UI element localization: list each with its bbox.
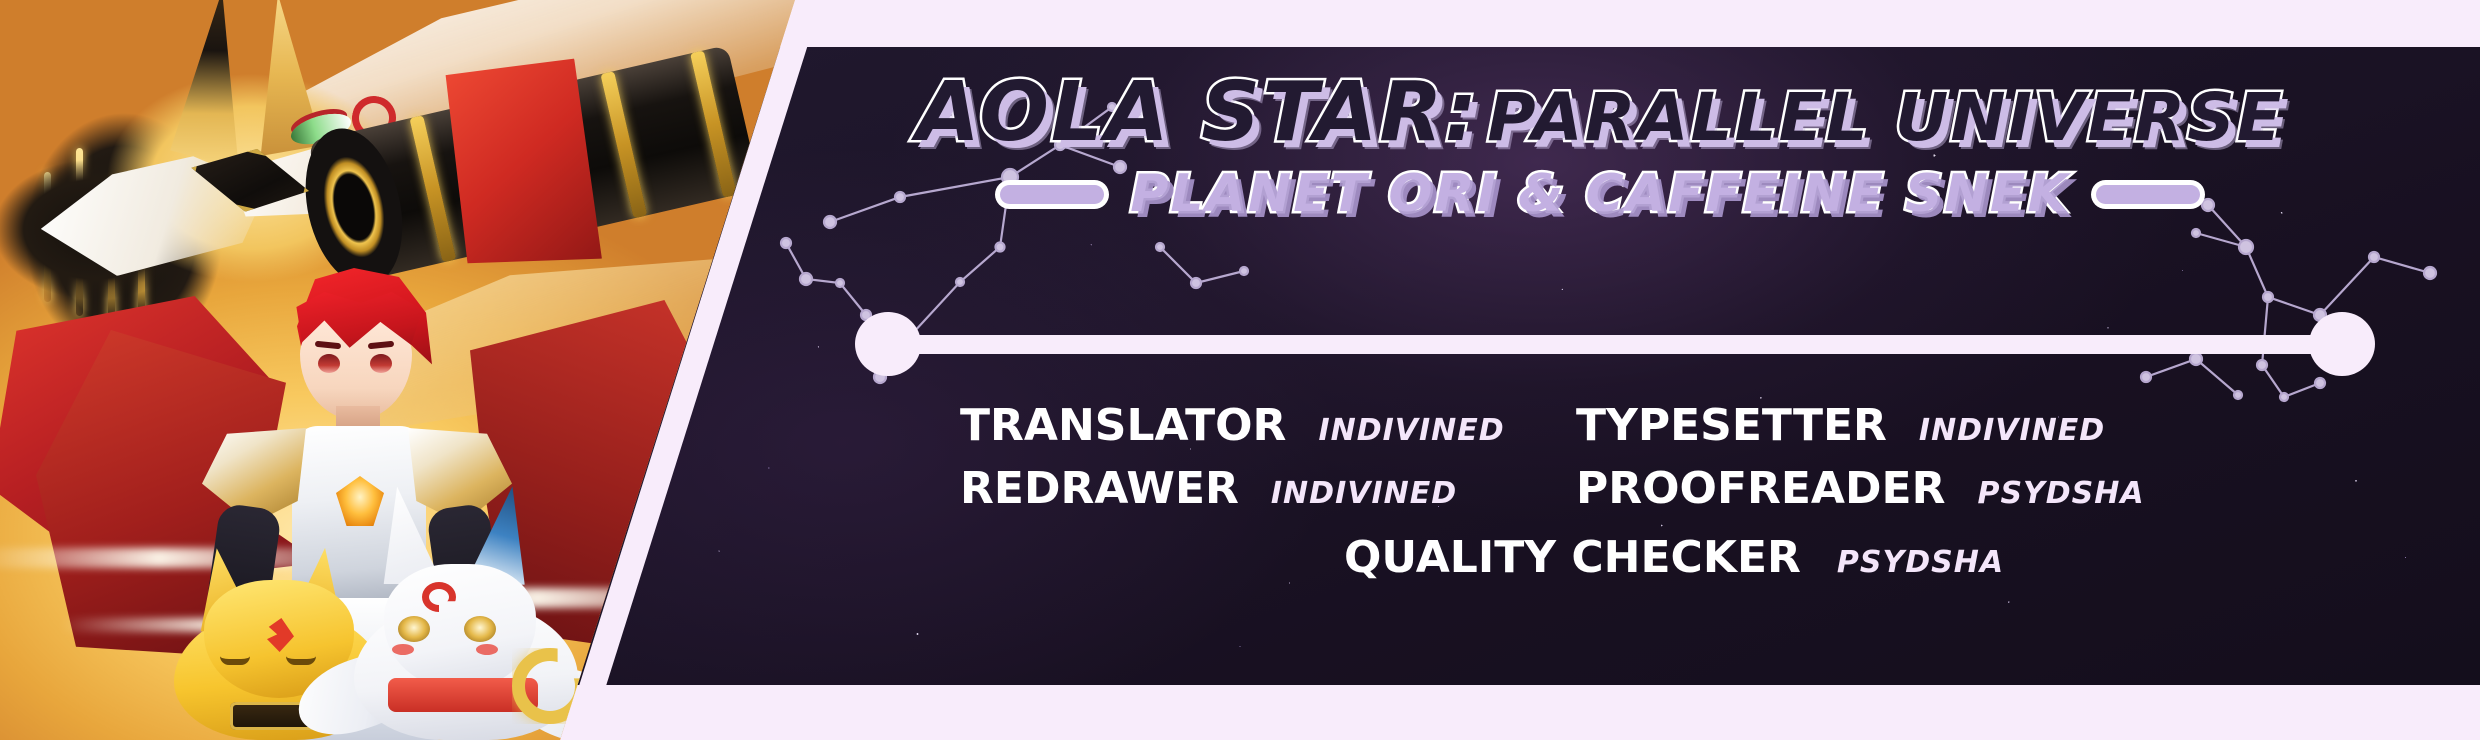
- credits-block: TRANSLATOR INDIVINED REDRAWER INDIVINED …: [960, 400, 2360, 590]
- white-fox-pet: [336, 520, 596, 740]
- credits-columns: TRANSLATOR INDIVINED REDRAWER INDIVINED …: [960, 400, 2360, 526]
- credit-name-proofreader: PSYDSHA: [1977, 476, 2144, 511]
- main-title-line: AOLA STAR:PARALLEL UNIVERSE: [820, 72, 2380, 154]
- character-eye-left: [318, 354, 340, 373]
- credit-name-quality-checker: PSYDSHA: [1837, 545, 2004, 580]
- subtitle-dash-left: [1000, 185, 1104, 204]
- series-subtitle-main: PARALLEL UNIVERSE: [1487, 79, 2284, 156]
- credit-role-translator: TRANSLATOR: [960, 400, 1286, 451]
- credit-name-typesetter: INDIVINED: [1919, 413, 2105, 448]
- credits-page: AOLA STAR:PARALLEL UNIVERSE PLANET ORI &…: [0, 0, 2480, 740]
- character-eye-right: [370, 354, 392, 373]
- white-fox-eye-left: [398, 616, 430, 642]
- white-fox-blush-right: [476, 644, 498, 655]
- white-fox-blush-left: [392, 644, 414, 655]
- subtitle-dash-right: [2096, 185, 2200, 204]
- credit-name-redrawer: INDIVINED: [1271, 476, 1457, 511]
- credits-column-right: TYPESETTER INDIVINED PROOFREADER PSYDSHA: [1576, 400, 2136, 526]
- subtitle-row: PLANET ORI & CAFFEINE SNEK: [820, 168, 2380, 220]
- yellow-fox-eye-right: [286, 656, 316, 665]
- credit-role-redrawer: REDRAWER: [960, 463, 1239, 514]
- credit-role-quality-checker: QUALITY CHECKER: [1344, 532, 1801, 583]
- series-title: AOLA STAR:: [916, 65, 1479, 160]
- credit-role-proofreader: PROOFREADER: [1576, 463, 1945, 514]
- credit-name-translator: INDIVINED: [1318, 413, 1504, 448]
- white-fox-eye-right: [464, 616, 496, 642]
- white-fox-gold-ring: [512, 648, 588, 724]
- credit-row: TYPESETTER INDIVINED: [1576, 400, 2136, 451]
- divider-bar-group: [855, 312, 2375, 376]
- credits-column-left: TRANSLATOR INDIVINED REDRAWER INDIVINED: [960, 400, 1490, 526]
- chapter-subtitle: PLANET ORI & CAFFEINE SNEK: [1130, 168, 2070, 220]
- credit-row: TRANSLATOR INDIVINED: [960, 400, 1490, 451]
- divider-cap-right: [2309, 312, 2375, 376]
- credit-role-typesetter: TYPESETTER: [1576, 400, 1887, 451]
- bottom-bar: [710, 685, 2480, 740]
- yellow-fox-eye-left: [220, 656, 250, 665]
- divider-line: [899, 335, 2331, 354]
- credit-row: REDRAWER INDIVINED: [960, 463, 1490, 514]
- credit-row: PROOFREADER PSYDSHA: [1576, 463, 2136, 514]
- title-block: AOLA STAR:PARALLEL UNIVERSE PLANET ORI &…: [820, 72, 2380, 262]
- credit-row: QUALITY CHECKER PSYDSHA: [960, 532, 2360, 583]
